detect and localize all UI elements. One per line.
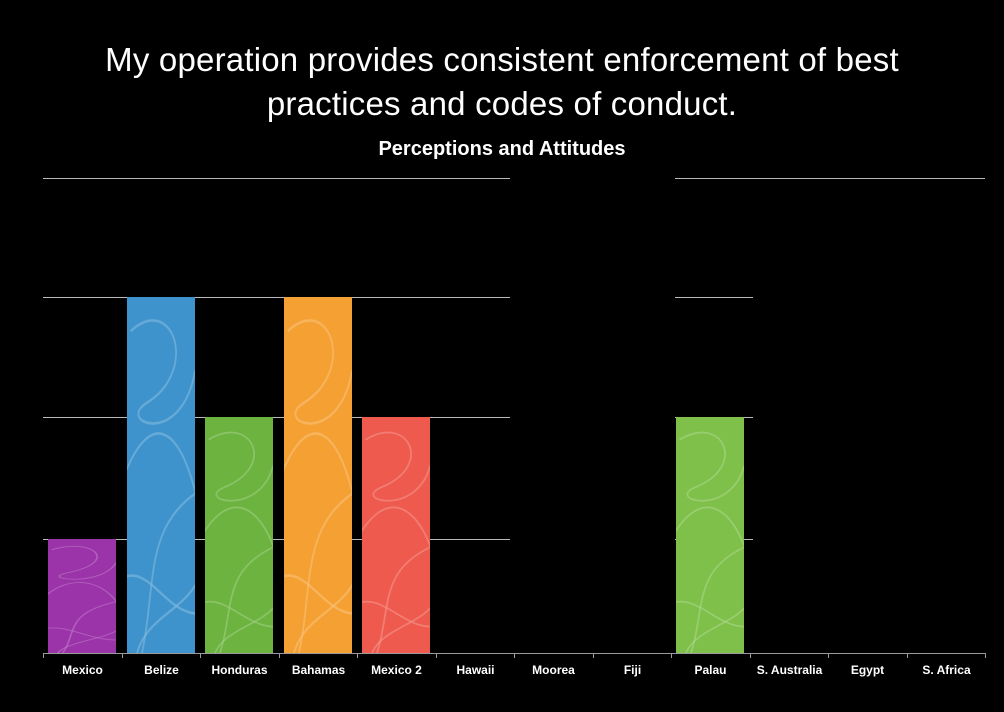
x-tick-5 (436, 653, 437, 658)
x-axis-label-s-africa: S. Africa (907, 663, 986, 677)
x-axis-label-mexico-2: Mexico 2 (357, 663, 436, 677)
x-axis-label-palau: Palau (671, 663, 750, 677)
x-tick-2 (200, 653, 201, 658)
bar-mexico[interactable] (48, 539, 116, 653)
gridline-left-3 (43, 297, 510, 298)
x-axis-label-mexico: Mexico (43, 663, 122, 677)
bar-palau[interactable] (676, 417, 744, 653)
bar-belize[interactable] (127, 297, 195, 653)
x-tick-8 (671, 653, 672, 658)
x-axis-label-honduras: Honduras (200, 663, 279, 677)
x-axis-label-belize: Belize (122, 663, 201, 677)
x-tick-3 (279, 653, 280, 658)
x-tick-0 (43, 653, 44, 658)
bar-honduras[interactable] (205, 417, 273, 653)
gridline-right-4 (675, 178, 985, 179)
bar-bahamas[interactable] (284, 297, 352, 653)
gridline-left-4 (43, 178, 510, 179)
x-axis-label-fiji: Fiji (593, 663, 672, 677)
x-axis-label-s-australia: S. Australia (750, 663, 829, 677)
x-tick-11 (907, 653, 908, 658)
x-tick-end (985, 653, 986, 658)
x-tick-10 (828, 653, 829, 658)
x-tick-4 (357, 653, 358, 658)
x-axis-label-hawaii: Hawaii (436, 663, 515, 677)
x-tick-1 (122, 653, 123, 658)
slide-canvas: My operation provides consistent enforce… (0, 0, 1004, 712)
x-axis-label-moorea: Moorea (514, 663, 593, 677)
gridline-right-3 (675, 297, 753, 298)
bar-chart-plot-area: MexicoBelizeHondurasBahamasMexico 2Hawai… (0, 0, 1004, 712)
x-tick-7 (593, 653, 594, 658)
x-tick-9 (750, 653, 751, 658)
x-axis-label-egypt: Egypt (828, 663, 907, 677)
x-tick-6 (514, 653, 515, 658)
x-axis-label-bahamas: Bahamas (279, 663, 358, 677)
gridline-left-2 (43, 417, 510, 418)
bar-mexico-2[interactable] (362, 417, 430, 653)
